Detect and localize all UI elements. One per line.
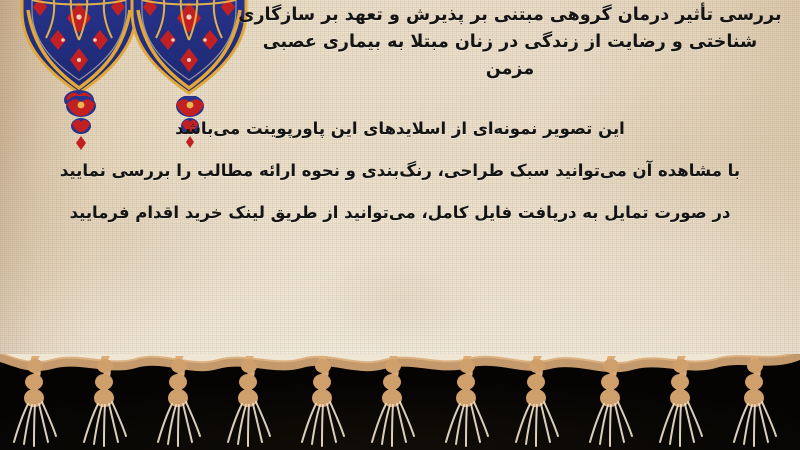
fringe-tassel [150, 356, 206, 450]
slide-body: این تصویر نمونه‌ای از اسلایدهای این پاور… [0, 108, 800, 234]
body-line-1: این تصویر نمونه‌ای از اسلایدهای این پاور… [0, 108, 800, 150]
slide-text-layer: بررسی تأثیر درمان گروهی مبتنی بر پذیرش و… [0, 0, 800, 372]
title-line-3: مزمن [230, 56, 790, 83]
slide-canvas: بررسی تأثیر درمان گروهی مبتنی بر پذیرش و… [0, 0, 800, 450]
fringe-tassel [438, 356, 494, 450]
fringe-tassel [294, 356, 350, 450]
fringe-tassel [510, 356, 566, 450]
fringe-tassel [6, 356, 62, 450]
fringe-tassel [654, 356, 710, 450]
fringe-tassel [366, 356, 422, 450]
fringe-tassel [78, 356, 134, 450]
fringe-tassel [726, 356, 782, 450]
fringe-tassel [582, 356, 638, 450]
title-line-1: بررسی تأثیر درمان گروهی مبتنی بر پذیرش و… [230, 2, 790, 29]
slide-title: بررسی تأثیر درمان گروهی مبتنی بر پذیرش و… [230, 2, 790, 83]
fringe-tassel [222, 356, 278, 450]
carpet-fringe-band [0, 354, 800, 450]
body-line-2: با مشاهده آن می‌توانید سبک طراحی، رنگ‌بن… [0, 150, 800, 192]
title-line-2: شناختی و رضایت از زندگی در زنان مبتلا به… [230, 29, 790, 56]
body-line-3: در صورت تمایل به دریافت فایل کامل، می‌تو… [0, 192, 800, 234]
